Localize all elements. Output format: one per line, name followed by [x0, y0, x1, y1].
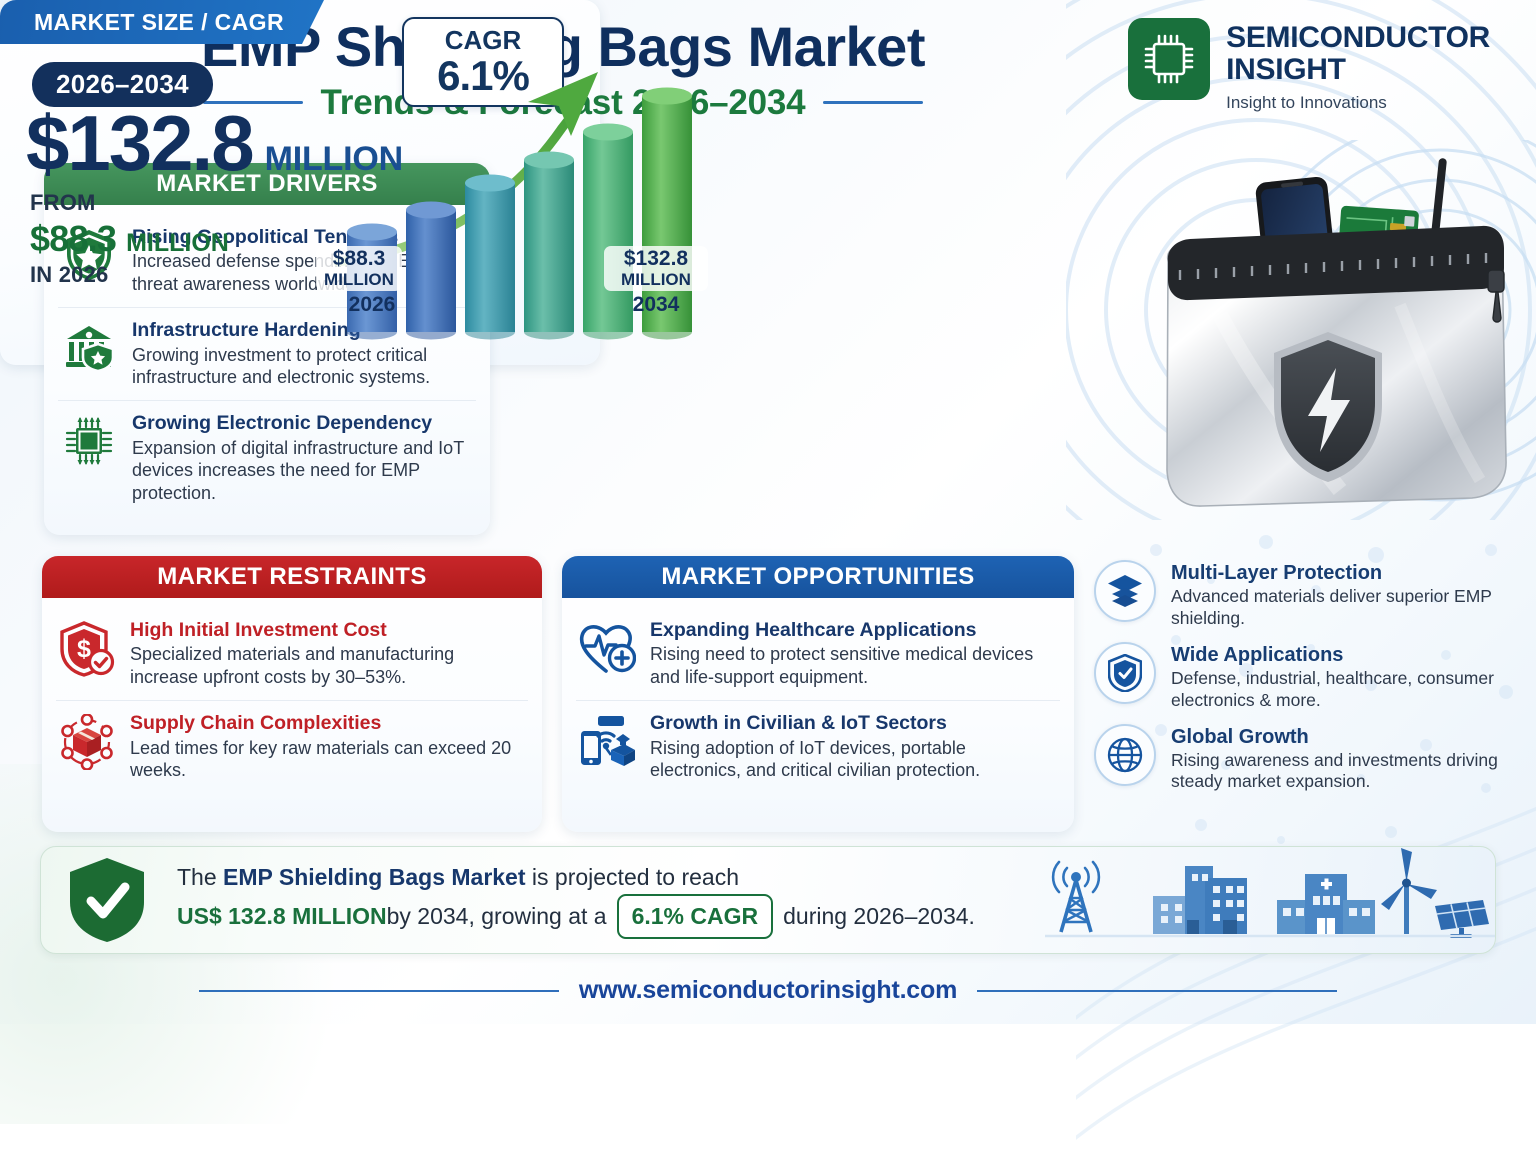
summary-text: The EMP Shielding Bags Market is project…: [173, 861, 1045, 940]
base-value-number: $88.3: [30, 218, 116, 260]
brand-name-line2: INSIGHT: [1226, 54, 1490, 86]
iot-devices-icon: [578, 712, 636, 768]
restraint-title: Supply Chain Complexities: [130, 712, 526, 735]
supply-chain-box-icon: [58, 712, 116, 770]
summary-line-1: The EMP Shielding Bags Market is project…: [177, 861, 1045, 894]
market-opportunities-body: Expanding Healthcare Applications Rising…: [562, 598, 1074, 801]
from-label: FROM: [30, 190, 96, 216]
cagr-label: CAGR: [445, 27, 522, 53]
summary-bar: The EMP Shielding Bags Market is project…: [40, 846, 1496, 954]
chart-xtick-2034: 2034: [620, 293, 692, 317]
growth-bar-chart: $88.3 MILLION 2026 $132.8 MILLION 2034: [330, 50, 700, 360]
driver-text: Growing Electronic Dependency Expansion …: [132, 412, 474, 505]
brand-name-line1: SEMICONDUCTOR: [1226, 22, 1490, 54]
heart-pulse-plus-icon: [578, 619, 636, 675]
chart-xtick-2026: 2026: [336, 293, 408, 317]
feature-item: Multi-Layer Protection Advanced material…: [1094, 560, 1514, 630]
restraint-text: Supply Chain Complexities Lead times for…: [130, 712, 526, 782]
summary-projected-value: US$ 132.8 MILLION: [177, 899, 387, 935]
summary-l1-a: The: [177, 864, 223, 890]
feature-desc: Defense, industrial, healthcare, consume…: [1171, 668, 1514, 712]
restraint-item: Supply Chain Complexities Lead times for…: [56, 700, 528, 793]
office-buildings-icon: [1153, 866, 1247, 934]
opportunity-title: Growth in Civilian & IoT Sectors: [650, 712, 1058, 735]
subtitle-rule-right: [823, 101, 923, 104]
opportunity-item: Expanding Healthcare Applications Rising…: [576, 608, 1060, 700]
market-restraints-panel: MARKET RESTRAINTS $ High Initial Investm…: [42, 556, 542, 832]
microchip-icon: [1128, 18, 1210, 100]
bank-shield-icon: [60, 319, 118, 373]
base-year-label: IN 2026: [30, 262, 108, 288]
restraint-desc: Specialized materials and manufacturing …: [130, 643, 526, 689]
emp-shielding-bag-illustration: [1150, 140, 1536, 540]
feature-desc: Advanced materials deliver superior EMP …: [1171, 586, 1514, 630]
base-value-block: $88.3 MILLION: [30, 218, 229, 260]
summary-market-name: EMP Shielding Bags Market: [223, 864, 525, 890]
shield-dollar-check-icon: $: [58, 619, 116, 677]
chart-label-2026-unit: MILLION: [324, 271, 394, 289]
brand-tagline: Insight to Innovations: [1226, 93, 1490, 113]
summary-line-2: US$ 132.8 MILLION by 2034, growing at a …: [177, 894, 1045, 940]
footer-rule-left: [199, 990, 559, 992]
hospital-icon: [1277, 874, 1375, 934]
chart-label-2034-value: $132.8: [612, 248, 700, 271]
brand-logo: SEMICONDUCTOR INSIGHT Insight to Innovat…: [1128, 18, 1490, 113]
feature-title: Global Growth: [1171, 726, 1514, 749]
chart-label-2034-unit: MILLION: [612, 271, 700, 289]
driver-desc: Expansion of digital infrastructure and …: [132, 437, 474, 506]
feature-item: Wide Applications Defense, industrial, h…: [1094, 642, 1514, 712]
summary-l2-b: by 2034, growing at a: [387, 899, 607, 935]
chart-label-2026: $88.3 MILLION: [316, 246, 402, 291]
opportunity-desc: Rising adoption of IoT devices, portable…: [650, 737, 1058, 783]
feature-desc: Rising awareness and investments driving…: [1171, 750, 1514, 794]
feature-item: Global Growth Rising awareness and inves…: [1094, 724, 1514, 794]
base-value-unit: MILLION: [126, 229, 229, 258]
layers-icon: [1094, 560, 1156, 622]
chart-label-2034: $132.8 MILLION: [604, 246, 708, 291]
summary-cagr-chip: 6.1% CAGR: [617, 894, 774, 940]
feature-title: Wide Applications: [1171, 644, 1514, 667]
opportunity-text: Expanding Healthcare Applications Rising…: [650, 619, 1058, 689]
market-value-number: $132.8: [26, 104, 253, 182]
shield-check-icon: [1094, 642, 1156, 704]
radio-tower-icon: [1053, 862, 1099, 932]
restraint-desc: Lead times for key raw materials can exc…: [130, 737, 526, 783]
restraint-title: High Initial Investment Cost: [130, 619, 526, 642]
wind-turbine-solar-icon: [1381, 848, 1489, 938]
market-opportunities-heading: MARKET OPPORTUNITIES: [562, 556, 1074, 598]
market-opportunities-panel: MARKET OPPORTUNITIES Expanding Healthcar…: [562, 556, 1074, 832]
restraint-item: $ High Initial Investment Cost Specializ…: [56, 608, 528, 700]
opportunity-desc: Rising need to protect sensitive medical…: [650, 643, 1058, 689]
summary-l2-c: during 2026–2034.: [783, 899, 975, 935]
summary-l1-c: is projected to reach: [526, 864, 740, 890]
opportunity-title: Expanding Healthcare Applications: [650, 619, 1058, 642]
footer-row: www.semiconductorinsight.com: [0, 962, 1536, 1005]
feature-title: Multi-Layer Protection: [1171, 562, 1514, 585]
driver-item: Growing Electronic Dependency Expansion …: [58, 400, 476, 516]
footer-website-url[interactable]: www.semiconductorinsight.com: [579, 976, 957, 1005]
feature-text: Multi-Layer Protection Advanced material…: [1171, 560, 1514, 630]
microchip-icon: [60, 412, 118, 468]
driver-title: Growing Electronic Dependency: [132, 412, 474, 435]
opportunity-item: Growth in Civilian & IoT Sectors Rising …: [576, 700, 1060, 793]
globe-icon: [1094, 724, 1156, 786]
market-restraints-heading: MARKET RESTRAINTS: [42, 556, 542, 598]
shield-check-icon: [41, 856, 173, 944]
opportunity-text: Growth in Civilian & IoT Sectors Rising …: [650, 712, 1058, 782]
restraint-text: High Initial Investment Cost Specialized…: [130, 619, 526, 689]
market-restraints-body: $ High Initial Investment Cost Specializ…: [42, 598, 542, 801]
summary-illustration: [1045, 846, 1495, 954]
market-size-ribbon: MARKET SIZE / CAGR: [0, 0, 324, 44]
page-footer: www.semiconductorinsight.com: [0, 962, 1536, 1024]
chart-label-2026-value: $88.3: [324, 248, 394, 271]
feature-text: Global Growth Rising awareness and inves…: [1171, 724, 1514, 794]
feature-highlights: Multi-Layer Protection Advanced material…: [1094, 560, 1514, 805]
brand-name-block: SEMICONDUCTOR INSIGHT Insight to Innovat…: [1226, 18, 1490, 113]
feature-text: Wide Applications Defense, industrial, h…: [1171, 642, 1514, 712]
footer-rule-right: [977, 990, 1337, 992]
